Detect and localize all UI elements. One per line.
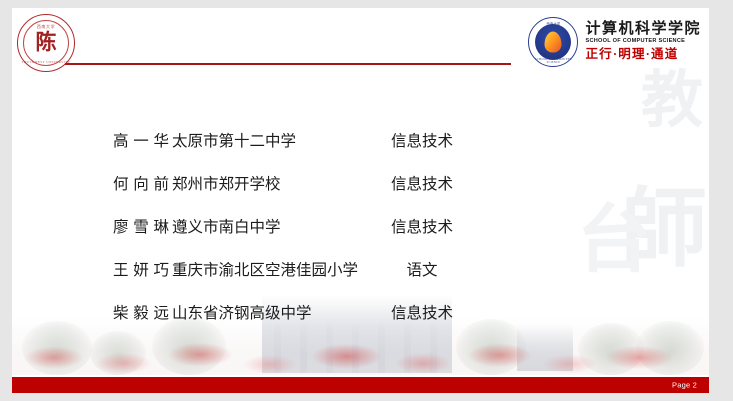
table-row: 王妍巧 重庆市渝北区空港佳园小学 语文 (12, 249, 709, 292)
participant-subject: 信息技术 (378, 292, 466, 335)
participant-name: 柴毅远 (113, 292, 169, 335)
tree-shape (90, 331, 146, 375)
participant-name: 高一华 (113, 120, 169, 163)
participant-subject: 信息技术 (378, 120, 466, 163)
page-number: Page 2 (672, 381, 697, 390)
footer-bar: Page 2 (12, 377, 709, 393)
participant-roster: 高一华 太原市第十二中学 信息技术 何向前 郑州市郑开学校 信息技术 廖雪琳 遵… (12, 120, 709, 335)
table-row: 廖雪琳 遵义市南白中学 信息技术 (12, 206, 709, 249)
cs-logo-text-block: 计算机科学学院 SCHOOL OF COMPUTER SCIENCE 正行·明理… (585, 21, 701, 63)
cs-motto: 正行·明理·通道 (585, 47, 701, 63)
school-of-computer-science-logo: 西南大学 SCHOOL OF COMPUTER SCIENCE 计算机科学学院 … (528, 14, 701, 70)
header-divider-line (65, 63, 511, 65)
table-row: 高一华 太原市第十二中学 信息技术 (12, 120, 709, 163)
participant-school: 郑州市郑开学校 (172, 163, 281, 206)
emblem-arc-bottom-text: SCHOOL OF COMPUTER SCIENCE (529, 58, 577, 64)
participant-name: 王妍巧 (113, 249, 169, 292)
seal-center-glyph: 陈 (18, 32, 74, 53)
participant-name: 廖雪琳 (113, 206, 169, 249)
slide-frame: 教 師 台 西南大学 陈 SOUTHWEST UNIVERSITY 西南大学 S… (0, 0, 733, 401)
cs-title-english: SCHOOL OF COMPUTER SCIENCE (585, 37, 701, 46)
slide-header: 西南大学 陈 SOUTHWEST UNIVERSITY 西南大学 SCHOOL … (12, 8, 709, 78)
participant-subject: 语文 (378, 249, 466, 292)
participant-name: 何向前 (113, 163, 169, 206)
slide-canvas: 教 師 台 西南大学 陈 SOUTHWEST UNIVERSITY 西南大学 S… (12, 8, 709, 393)
participant-school: 遵义市南白中学 (172, 206, 281, 249)
flame-icon (545, 32, 562, 53)
participant-school: 太原市第十二中学 (172, 120, 296, 163)
emblem-arc-top-text: 西南大学 (529, 21, 577, 26)
table-row: 柴毅远 山东省济钢高级中学 信息技术 (12, 292, 709, 335)
participant-school: 重庆市渝北区空港佳园小学 (172, 249, 358, 292)
cs-title-chinese: 计算机科学学院 (585, 21, 701, 37)
participant-subject: 信息技术 (378, 163, 466, 206)
cs-emblem-icon: 西南大学 SCHOOL OF COMPUTER SCIENCE (528, 17, 578, 67)
participant-school: 山东省济钢高级中学 (172, 292, 312, 335)
table-row: 何向前 郑州市郑开学校 信息技术 (12, 163, 709, 206)
participant-subject: 信息技术 (378, 206, 466, 249)
